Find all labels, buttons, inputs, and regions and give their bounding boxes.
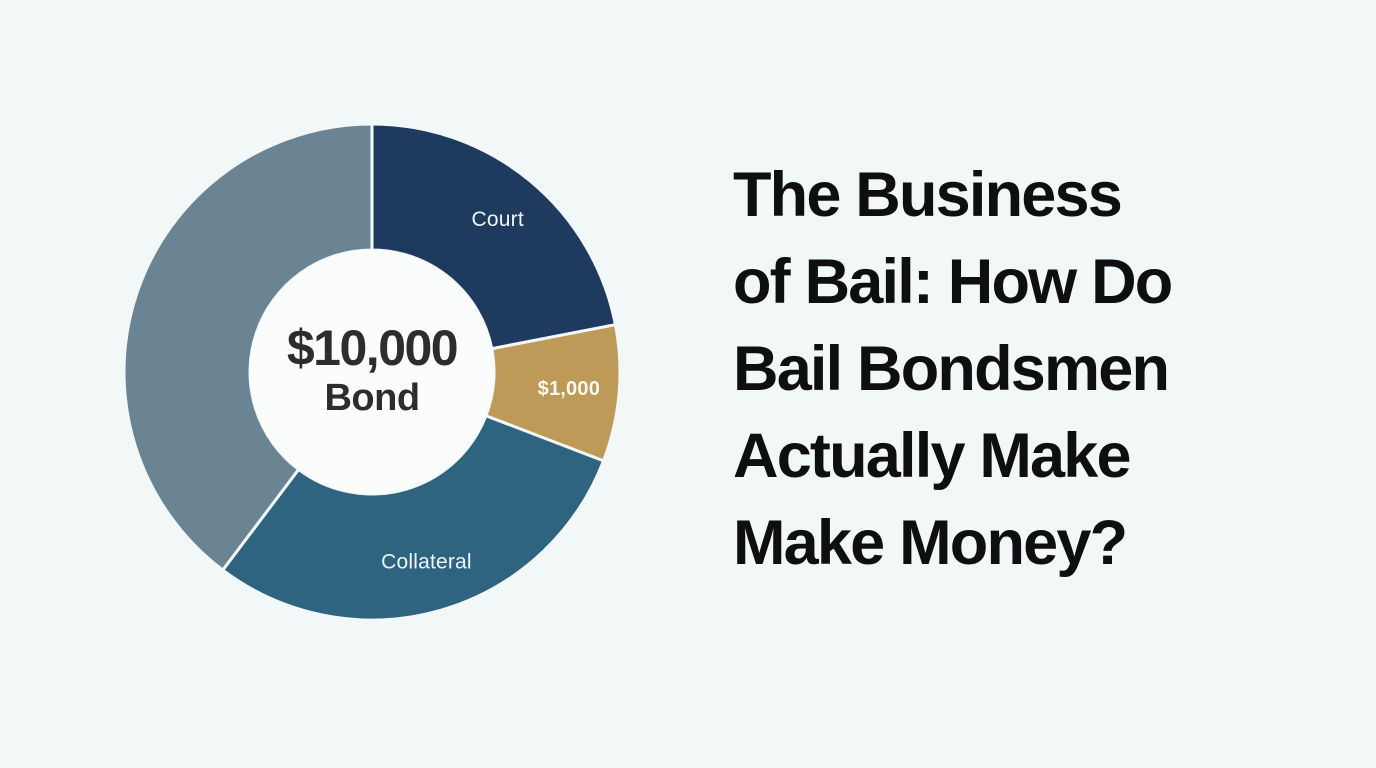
- donut-chart-svg: Court$1,000Collateral: [62, 62, 682, 682]
- donut-chart: Court$1,000Collateral $10,000 Bond: [62, 62, 682, 682]
- donut-slice-label: $1,000: [538, 378, 600, 400]
- headline-line-4: Actually Make: [733, 413, 1333, 500]
- donut-slice-label: Collateral: [381, 550, 472, 573]
- headline-line-2: of Bail: How Do: [733, 239, 1333, 326]
- headline-line-5: Make Money?: [733, 500, 1333, 587]
- donut-hub-circle: [250, 250, 494, 494]
- headline-block: The Business of Bail: How Do Bail Bondsm…: [733, 152, 1333, 587]
- infographic-canvas: Court$1,000Collateral $10,000 Bond The B…: [0, 0, 1376, 768]
- headline-line-1: The Business: [733, 152, 1333, 239]
- headline-line-3: Bail Bondsmen: [733, 326, 1333, 413]
- donut-slice-label: Court: [472, 208, 524, 231]
